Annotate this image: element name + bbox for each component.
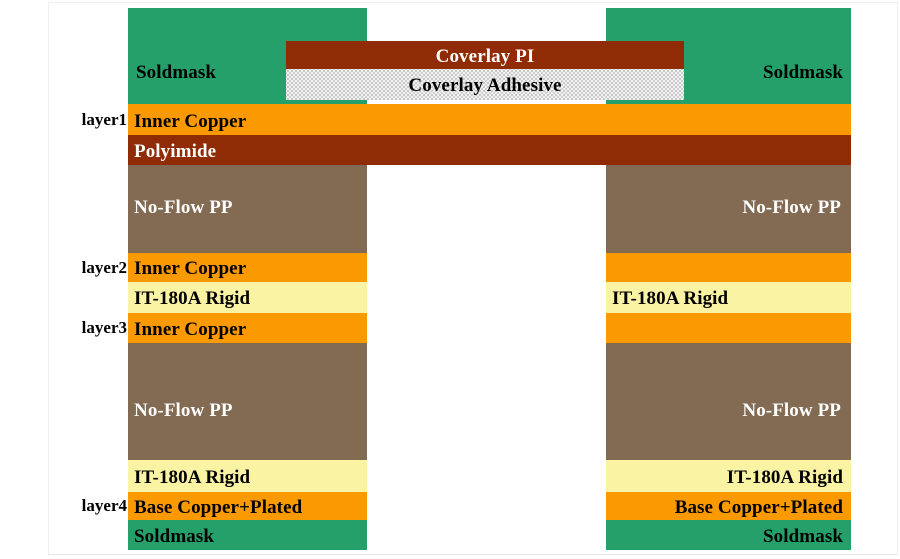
left-soldmask-bottom-label: Soldmask [134, 527, 214, 546]
layer-tag-layer4: layer4 [82, 497, 127, 514]
right-inner-copper-1-band [606, 104, 851, 135]
left-base-copper-plated-label: Base Copper+Plated [134, 498, 302, 517]
left-inner-copper-2-band: Inner Copper [128, 253, 367, 282]
right-soldmask-bottom-label: Soldmask [763, 527, 843, 546]
left-it180a-upper-band: IT-180A Rigid [128, 282, 367, 313]
left-inner-copper-1-band: Inner Copper [128, 104, 367, 135]
layer-tag-layer3: layer3 [82, 319, 127, 336]
layer-tag-layer1: layer1 [82, 111, 127, 128]
left-inner-copper-3-label: Inner Copper [134, 320, 246, 339]
left-it180a-lower-label: IT-180A Rigid [134, 468, 250, 487]
right-base-copper-plated-label: Base Copper+Plated [675, 498, 843, 517]
left-polyimide-label: Polyimide [134, 142, 216, 161]
right-it180a-lower-label: IT-180A Rigid [727, 468, 843, 487]
right-soldmask-top-label: Soldmask [763, 63, 843, 82]
right-no-flow-pp-upper-band: No-Flow PP [606, 165, 851, 253]
left-inner-copper-1-label: Inner Copper [134, 112, 246, 131]
coverlay-adhesive-band: Coverlay Adhesive [286, 69, 684, 100]
left-no-flow-pp-lower-label: No-Flow PP [134, 401, 233, 420]
right-it180a-upper-label: IT-180A Rigid [612, 289, 728, 308]
right-inner-copper-3-band [606, 313, 851, 343]
layer-callout-column: layer1 layer2 layer3 layer4 [0, 0, 127, 559]
coverlay-pi-band: Coverlay PI [286, 41, 684, 69]
left-soldmask-bottom-band: Soldmask [128, 520, 367, 550]
right-no-flow-pp-upper-label: No-Flow PP [742, 198, 841, 217]
stackup-diagram: Soldmask Inner Copper Polyimide No-Flow … [0, 0, 900, 559]
left-no-flow-pp-lower-band: No-Flow PP [128, 343, 367, 460]
left-it180a-lower-band: IT-180A Rigid [128, 460, 367, 492]
left-polyimide-band: Polyimide [128, 135, 367, 165]
right-no-flow-pp-lower-band: No-Flow PP [606, 343, 851, 460]
coverlay-adhesive-label: Coverlay Adhesive [408, 76, 561, 95]
right-polyimide-band [606, 135, 851, 165]
right-no-flow-pp-lower-label: No-Flow PP [742, 401, 841, 420]
right-base-copper-plated-band: Base Copper+Plated [606, 492, 851, 520]
left-soldmask-top-label: Soldmask [136, 63, 216, 82]
left-it180a-upper-label: IT-180A Rigid [134, 289, 250, 308]
left-inner-copper-3-band: Inner Copper [128, 313, 367, 343]
right-soldmask-bottom-band: Soldmask [606, 520, 851, 550]
left-base-copper-plated-band: Base Copper+Plated [128, 492, 367, 520]
left-no-flow-pp-upper-label: No-Flow PP [134, 198, 233, 217]
right-inner-copper-2-band [606, 253, 851, 282]
right-it180a-upper-band: IT-180A Rigid [606, 282, 851, 313]
layer-tag-layer2: layer2 [82, 259, 127, 276]
coverlay-pi-label: Coverlay PI [436, 47, 535, 66]
right-it180a-lower-band: IT-180A Rigid [606, 460, 851, 492]
left-no-flow-pp-upper-band: No-Flow PP [128, 165, 367, 253]
left-inner-copper-2-label: Inner Copper [134, 259, 246, 278]
